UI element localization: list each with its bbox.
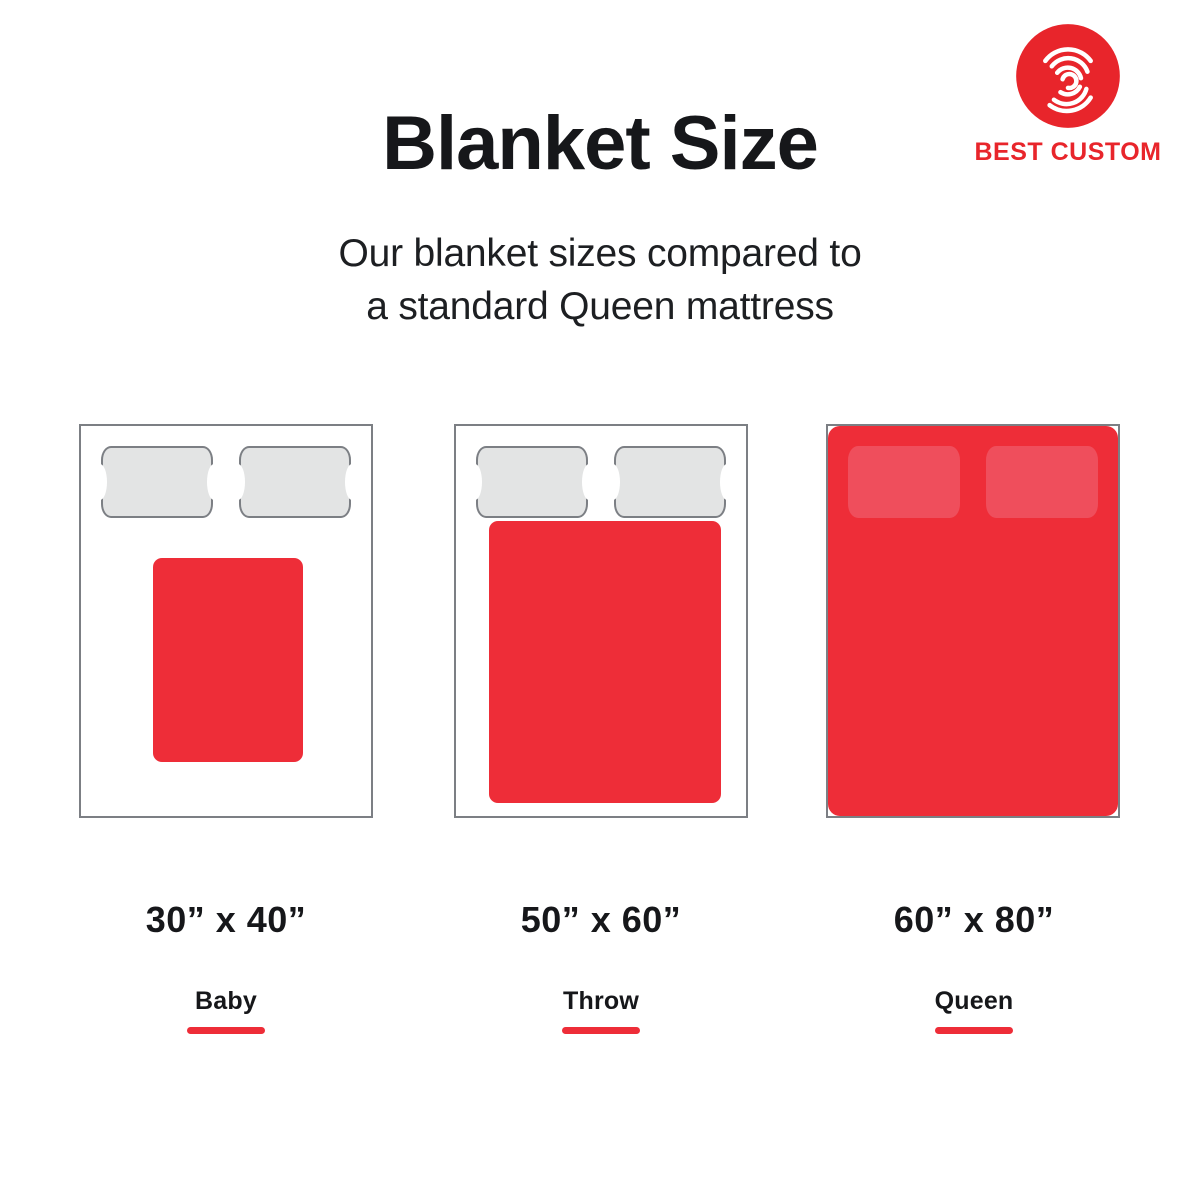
size-label-baby: 30” x 40” Baby (61, 900, 391, 1034)
size-name: Queen (809, 988, 1139, 1016)
size-dimensions: 60” x 80” (809, 900, 1139, 940)
pillow-right (986, 446, 1098, 518)
size-dimensions: 50” x 60” (436, 900, 766, 940)
size-name: Baby (61, 988, 391, 1016)
blanket-throw (489, 521, 721, 803)
bed-diagram-throw (454, 424, 748, 818)
size-dimensions: 30” x 40” (61, 900, 391, 940)
blanket-baby (153, 558, 303, 762)
underline-rule (187, 1027, 265, 1034)
bed-diagrams (0, 424, 1200, 824)
subtitle-line-1: Our blanket sizes compared to (0, 228, 1200, 281)
pillow-left (848, 446, 960, 518)
blanket-size-infographic: BEST CUSTOM Blanket Size Our blanket siz… (0, 0, 1200, 1200)
underline-rule (562, 1027, 640, 1034)
size-name: Throw (436, 988, 766, 1016)
bed-diagram-baby (79, 424, 373, 818)
size-labels: 30” x 40” Baby 50” x 60” Throw 60” x 80”… (0, 900, 1200, 1060)
pillow-right (239, 446, 351, 518)
size-label-throw: 50” x 60” Throw (436, 900, 766, 1034)
size-label-queen: 60” x 80” Queen (809, 900, 1139, 1034)
underline-rule (935, 1027, 1013, 1034)
blanket-queen (828, 426, 1118, 816)
pillow-right (614, 446, 726, 518)
pillow-left (476, 446, 588, 518)
subtitle-line-2: a standard Queen mattress (0, 281, 1200, 334)
pillow-left (101, 446, 213, 518)
page-subtitle: Our blanket sizes compared to a standard… (0, 228, 1200, 333)
page-title: Blanket Size (0, 104, 1200, 184)
bed-diagram-queen (826, 424, 1120, 818)
